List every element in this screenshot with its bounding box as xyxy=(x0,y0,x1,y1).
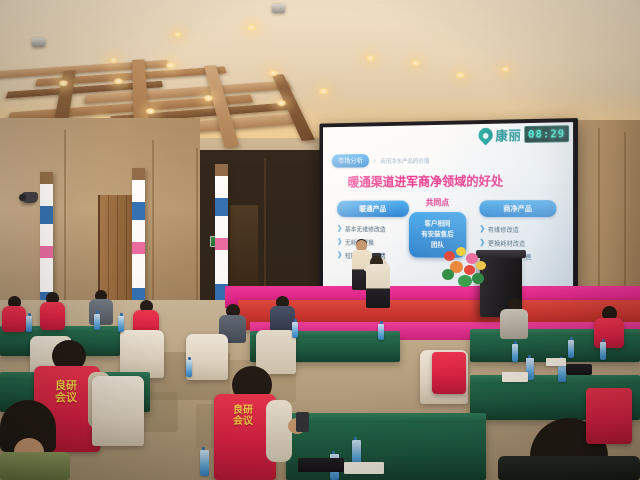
downlight xyxy=(276,100,287,107)
downlight xyxy=(113,78,124,85)
audience-sleeve xyxy=(266,400,292,462)
audience-torso xyxy=(0,452,70,480)
water-bottle xyxy=(600,342,606,360)
audience-vest xyxy=(594,318,624,348)
water-bottle xyxy=(118,316,124,332)
downlight xyxy=(108,57,119,64)
table-top xyxy=(470,375,640,384)
common-point-line: 客户相同 xyxy=(413,219,463,230)
digital-clock: 08:29 xyxy=(524,125,569,143)
draped-vest xyxy=(432,352,466,394)
chair xyxy=(256,330,296,374)
smartphone xyxy=(296,412,309,432)
brand-logo: 康丽 08:29 xyxy=(478,124,569,144)
arrow-right-icon: ❯ xyxy=(337,251,342,258)
slide-title: 暖通渠道进军商净领域的好处 xyxy=(348,171,504,191)
notebook xyxy=(566,364,592,375)
table-top xyxy=(286,413,486,423)
downlight xyxy=(165,62,176,69)
cctv-camera-icon xyxy=(22,192,38,203)
floral-arrangement xyxy=(438,245,498,293)
downlight xyxy=(172,31,183,38)
water-drop-icon xyxy=(475,125,495,146)
breadcrumb: 市场分析 › 商用净水产品的价值 xyxy=(332,153,430,168)
column-heading: 商净产品 xyxy=(480,200,557,217)
audience-vest xyxy=(40,302,65,330)
wall-panel-seam xyxy=(64,130,66,320)
wall-panel-seam xyxy=(196,148,198,313)
list-item: ❯ 有维修改造 xyxy=(480,224,557,234)
bullet-text: 基本无维修改造 xyxy=(345,223,386,233)
audience-torso xyxy=(498,456,640,480)
downlight xyxy=(145,108,156,115)
water-bottle xyxy=(200,450,209,476)
breadcrumb-pill: 市场分析 xyxy=(332,154,369,168)
paper-sheet xyxy=(344,462,384,474)
vest-text: 良研会议 xyxy=(42,380,90,403)
audience-torso xyxy=(500,309,528,339)
photographer xyxy=(366,264,390,308)
brand-name: 康丽 xyxy=(495,125,521,144)
paper-sheet xyxy=(502,372,528,382)
vest-text: 良研会议 xyxy=(220,406,266,427)
arrow-right-icon: ❯ xyxy=(337,225,342,232)
downlight xyxy=(500,66,511,73)
chair xyxy=(120,330,164,378)
downlight xyxy=(58,80,69,87)
conference-hall-photo: 康丽 08:29 市场分析 › 商用净水产品的价值 暖通渠道进军商净领域的好处 … xyxy=(0,0,640,480)
water-bottle xyxy=(568,340,574,358)
common-point-line: 有安装售后 xyxy=(413,229,463,240)
ceiling-spotlight xyxy=(272,4,285,13)
arrow-right-icon: ❯ xyxy=(480,225,486,232)
water-bottle xyxy=(512,344,518,362)
downlight xyxy=(318,88,329,95)
chair xyxy=(186,334,228,380)
paper-sheet xyxy=(546,358,566,366)
arrow-right-icon: ❯ xyxy=(337,238,342,245)
common-points-heading: 共同点 xyxy=(409,196,466,208)
column-heading: 暖通产品 xyxy=(337,201,409,217)
downlight xyxy=(365,55,376,62)
draped-vest xyxy=(586,388,632,444)
ceiling-spotlight xyxy=(32,38,45,47)
wall-panel-seam xyxy=(152,140,154,315)
chevron-right-icon: › xyxy=(374,157,376,164)
list-item: ❯ 基本无维修改造 xyxy=(337,223,409,233)
water-bottle xyxy=(186,360,192,377)
water-bottle xyxy=(94,314,100,330)
water-bottle xyxy=(378,324,384,340)
chair xyxy=(92,376,144,446)
downlight xyxy=(203,95,214,102)
downlight xyxy=(455,72,466,79)
breadcrumb-tail: 商用净水产品的价值 xyxy=(380,156,429,165)
bullet-text: 有维修改造 xyxy=(488,224,519,234)
audience-torso xyxy=(89,299,113,325)
downlight xyxy=(410,60,421,67)
audience-vest xyxy=(2,306,26,332)
list-item: ❯ 无耗材更换 xyxy=(337,237,409,247)
notebook xyxy=(298,458,344,472)
hanging-banner xyxy=(132,168,145,320)
downlight xyxy=(246,24,257,31)
water-bottle xyxy=(26,316,32,332)
downlight xyxy=(268,70,279,77)
water-bottle xyxy=(292,322,298,338)
